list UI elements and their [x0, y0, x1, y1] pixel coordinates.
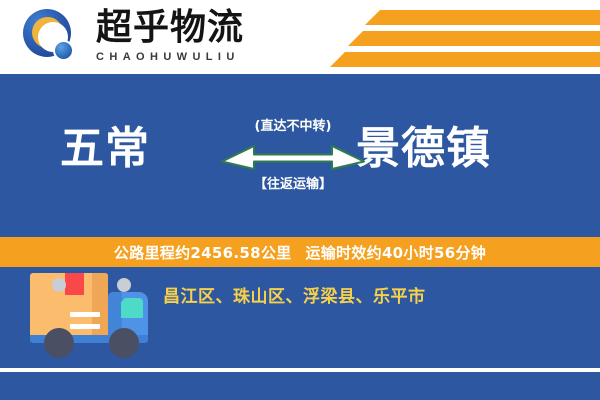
- coverage-panel: 昌江区、珠山区、浮梁县、乐平市: [0, 267, 600, 400]
- decorative-stripes: [330, 8, 600, 66]
- double-headed-arrow-icon: [218, 139, 368, 173]
- truck-hub-rear: [52, 278, 66, 292]
- truck-box-stripe-1: [70, 312, 100, 317]
- truck-wheel-front: [109, 328, 139, 358]
- delivery-truck-icon: [28, 270, 168, 370]
- origin-city-name: 五常: [60, 122, 150, 176]
- destination-city-name: 景德镇: [356, 122, 491, 176]
- brand-block: 超乎物流 CHAOHUWULIU: [96, 8, 244, 64]
- direct-route-label: (直达不中转): [218, 118, 368, 135]
- truck-hub-front: [117, 278, 131, 292]
- duration-text: 运输时效约40小时56分钟: [305, 242, 486, 263]
- brand-name-en: CHAOHUWULIU: [96, 50, 244, 64]
- info-bar: 公路里程约2456.58公里 运输时效约40小时56分钟: [0, 237, 600, 267]
- logistics-route-poster: 超乎物流 CHAOHUWULIU 五常 景德镇 (直达不中转) 【往返运输】 公…: [0, 0, 600, 400]
- stripe-3: [330, 52, 600, 67]
- brand-logo-icon: [23, 9, 81, 67]
- route-center-block: (直达不中转) 【往返运输】: [218, 118, 368, 210]
- route-arrow-wrapper: [218, 139, 368, 173]
- stripe-2: [348, 31, 600, 46]
- logo-dot-icon: [53, 40, 74, 61]
- truck-wheel-rear: [44, 328, 74, 358]
- road-line-icon: [0, 368, 600, 372]
- stripe-1: [365, 10, 600, 25]
- round-trip-label: 【往返运输】: [218, 176, 368, 193]
- truck-box-tape: [65, 273, 84, 295]
- poster-header: 超乎物流 CHAOHUWULIU: [0, 0, 600, 74]
- brand-name-cn: 超乎物流: [96, 8, 244, 48]
- truck-box-stripe-2: [70, 324, 100, 329]
- coverage-districts-text: 昌江区、珠山区、浮梁县、乐平市: [163, 282, 426, 307]
- distance-text: 公路里程约2456.58公里: [114, 242, 292, 263]
- truck-window: [121, 298, 143, 318]
